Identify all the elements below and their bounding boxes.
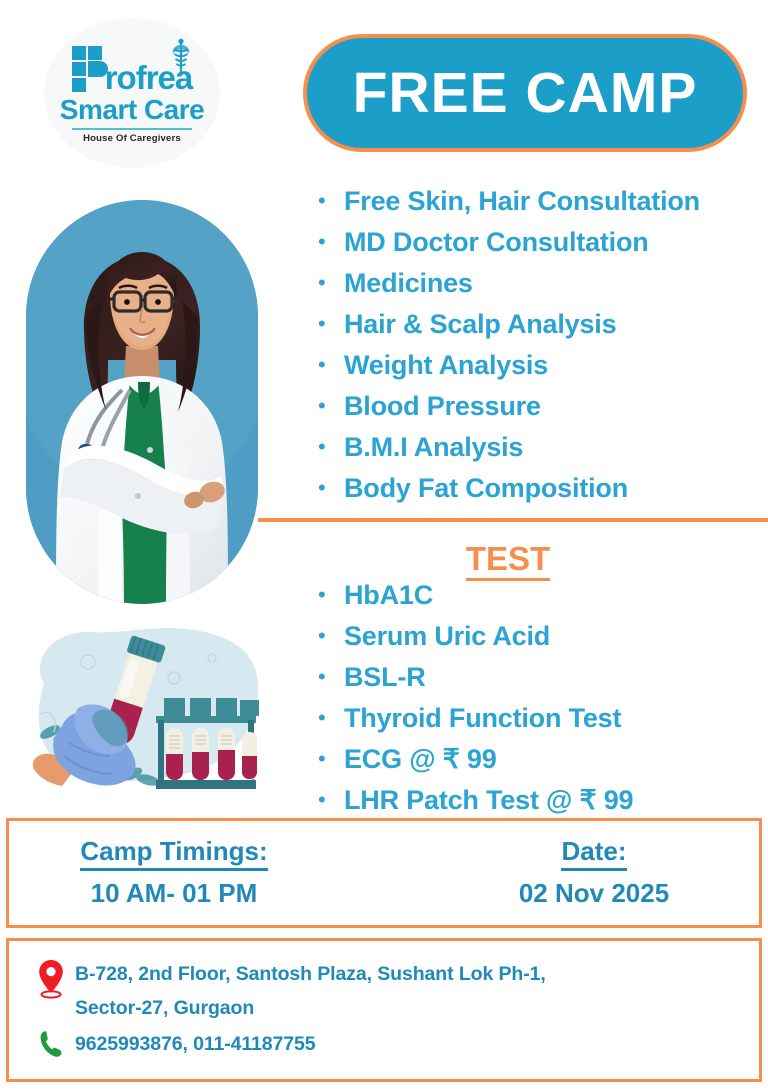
bullet-dot-icon: •: [318, 313, 344, 335]
service-item: •Blood Pressure: [318, 391, 762, 432]
logo-divider: [72, 128, 192, 130]
service-item-label: Body Fat Composition: [344, 473, 628, 504]
services-list: •Free Skin, Hair Consultation•MD Doctor …: [318, 186, 762, 514]
service-item: •Weight Analysis: [318, 350, 762, 391]
free-camp-poster: rofrea Smart Care House Of Caregivers: [0, 0, 768, 1090]
doctor-photo: [26, 200, 258, 604]
camp-date-block: Date: 02 Nov 2025: [409, 837, 759, 909]
bullet-dot-icon: •: [318, 666, 344, 688]
logo-p-blocks-icon: [72, 46, 108, 94]
bullet-dot-icon: •: [318, 272, 344, 294]
bullet-dot-icon: •: [318, 395, 344, 417]
bullet-dot-icon: •: [318, 231, 344, 253]
tests-heading-label: TEST: [466, 540, 550, 581]
lab-test-illustration: [6, 616, 290, 812]
test-item: •ECG @ ₹ 99: [318, 744, 762, 785]
tests-section-heading: TEST: [318, 540, 698, 578]
test-item: •Thyroid Function Test: [318, 703, 762, 744]
phone-icon: [27, 1027, 75, 1059]
camp-timings-block: Camp Timings: 10 AM- 01 PM: [9, 837, 409, 909]
test-item-label: ECG @ ₹ 99: [344, 744, 497, 775]
test-item-label: Serum Uric Acid: [344, 621, 550, 652]
address-line-2: Sector-27, Gurgaon: [75, 991, 546, 1025]
test-item: •HbA1C: [318, 580, 762, 621]
test-item: •Serum Uric Acid: [318, 621, 762, 662]
test-item-label: HbA1C: [344, 580, 433, 611]
logo-wordmark-row: rofrea: [72, 42, 193, 94]
brand-tagline: House Of Caregivers: [83, 133, 181, 144]
test-item-label: Thyroid Function Test: [344, 703, 621, 734]
brand-logo: rofrea Smart Care House Of Caregivers: [44, 18, 220, 168]
section-divider: [258, 518, 768, 522]
service-item-label: MD Doctor Consultation: [344, 227, 649, 258]
schedule-box: Camp Timings: 10 AM- 01 PM Date: 02 Nov …: [6, 818, 762, 928]
service-item-label: Blood Pressure: [344, 391, 541, 422]
service-item-label: B.M.I Analysis: [344, 432, 523, 463]
bullet-dot-icon: •: [318, 748, 344, 770]
phone-numbers: 9625993876, 011-41187755: [75, 1027, 316, 1061]
brand-name-line2: Smart Care: [60, 95, 204, 124]
service-item-label: Medicines: [344, 268, 473, 299]
bullet-dot-icon: •: [318, 477, 344, 499]
tests-list: •HbA1C•Serum Uric Acid•BSL-R•Thyroid Fun…: [318, 580, 762, 826]
service-item: •Free Skin, Hair Consultation: [318, 186, 762, 227]
camp-timings-value: 10 AM- 01 PM: [91, 879, 258, 909]
service-item-label: Weight Analysis: [344, 350, 548, 381]
camp-date-label: Date:: [561, 837, 626, 871]
bullet-dot-icon: •: [318, 436, 344, 458]
phone-line: 9625993876, 011-41187755: [27, 1027, 741, 1061]
camp-date-value: 02 Nov 2025: [519, 879, 669, 909]
address-line-1: B-728, 2nd Floor, Santosh Plaza, Sushant…: [75, 957, 546, 991]
service-item: •Hair & Scalp Analysis: [318, 309, 762, 350]
camp-timings-label: Camp Timings:: [80, 837, 267, 871]
bullet-dot-icon: •: [318, 354, 344, 376]
test-item-label: LHR Patch Test @ ₹ 99: [344, 785, 633, 816]
free-camp-header-banner: FREE CAMP: [303, 34, 747, 152]
contact-box: B-728, 2nd Floor, Santosh Plaza, Sushant…: [6, 938, 762, 1082]
bullet-dot-icon: •: [318, 584, 344, 606]
caduceus-icon: [168, 38, 194, 78]
bullet-dot-icon: •: [318, 625, 344, 647]
test-item-label: BSL-R: [344, 662, 426, 693]
page-title: FREE CAMP: [353, 60, 698, 126]
bullet-dot-icon: •: [318, 789, 344, 811]
service-item-label: Hair & Scalp Analysis: [344, 309, 616, 340]
service-item: •Body Fat Composition: [318, 473, 762, 514]
service-item-label: Free Skin, Hair Consultation: [344, 186, 700, 217]
service-item: •B.M.I Analysis: [318, 432, 762, 473]
test-item: •BSL-R: [318, 662, 762, 703]
service-item: •Medicines: [318, 268, 762, 309]
bullet-dot-icon: •: [318, 707, 344, 729]
address-line: B-728, 2nd Floor, Santosh Plaza, Sushant…: [27, 957, 741, 1025]
bullet-dot-icon: •: [318, 190, 344, 212]
location-pin-icon: [27, 957, 75, 999]
service-item: •MD Doctor Consultation: [318, 227, 762, 268]
